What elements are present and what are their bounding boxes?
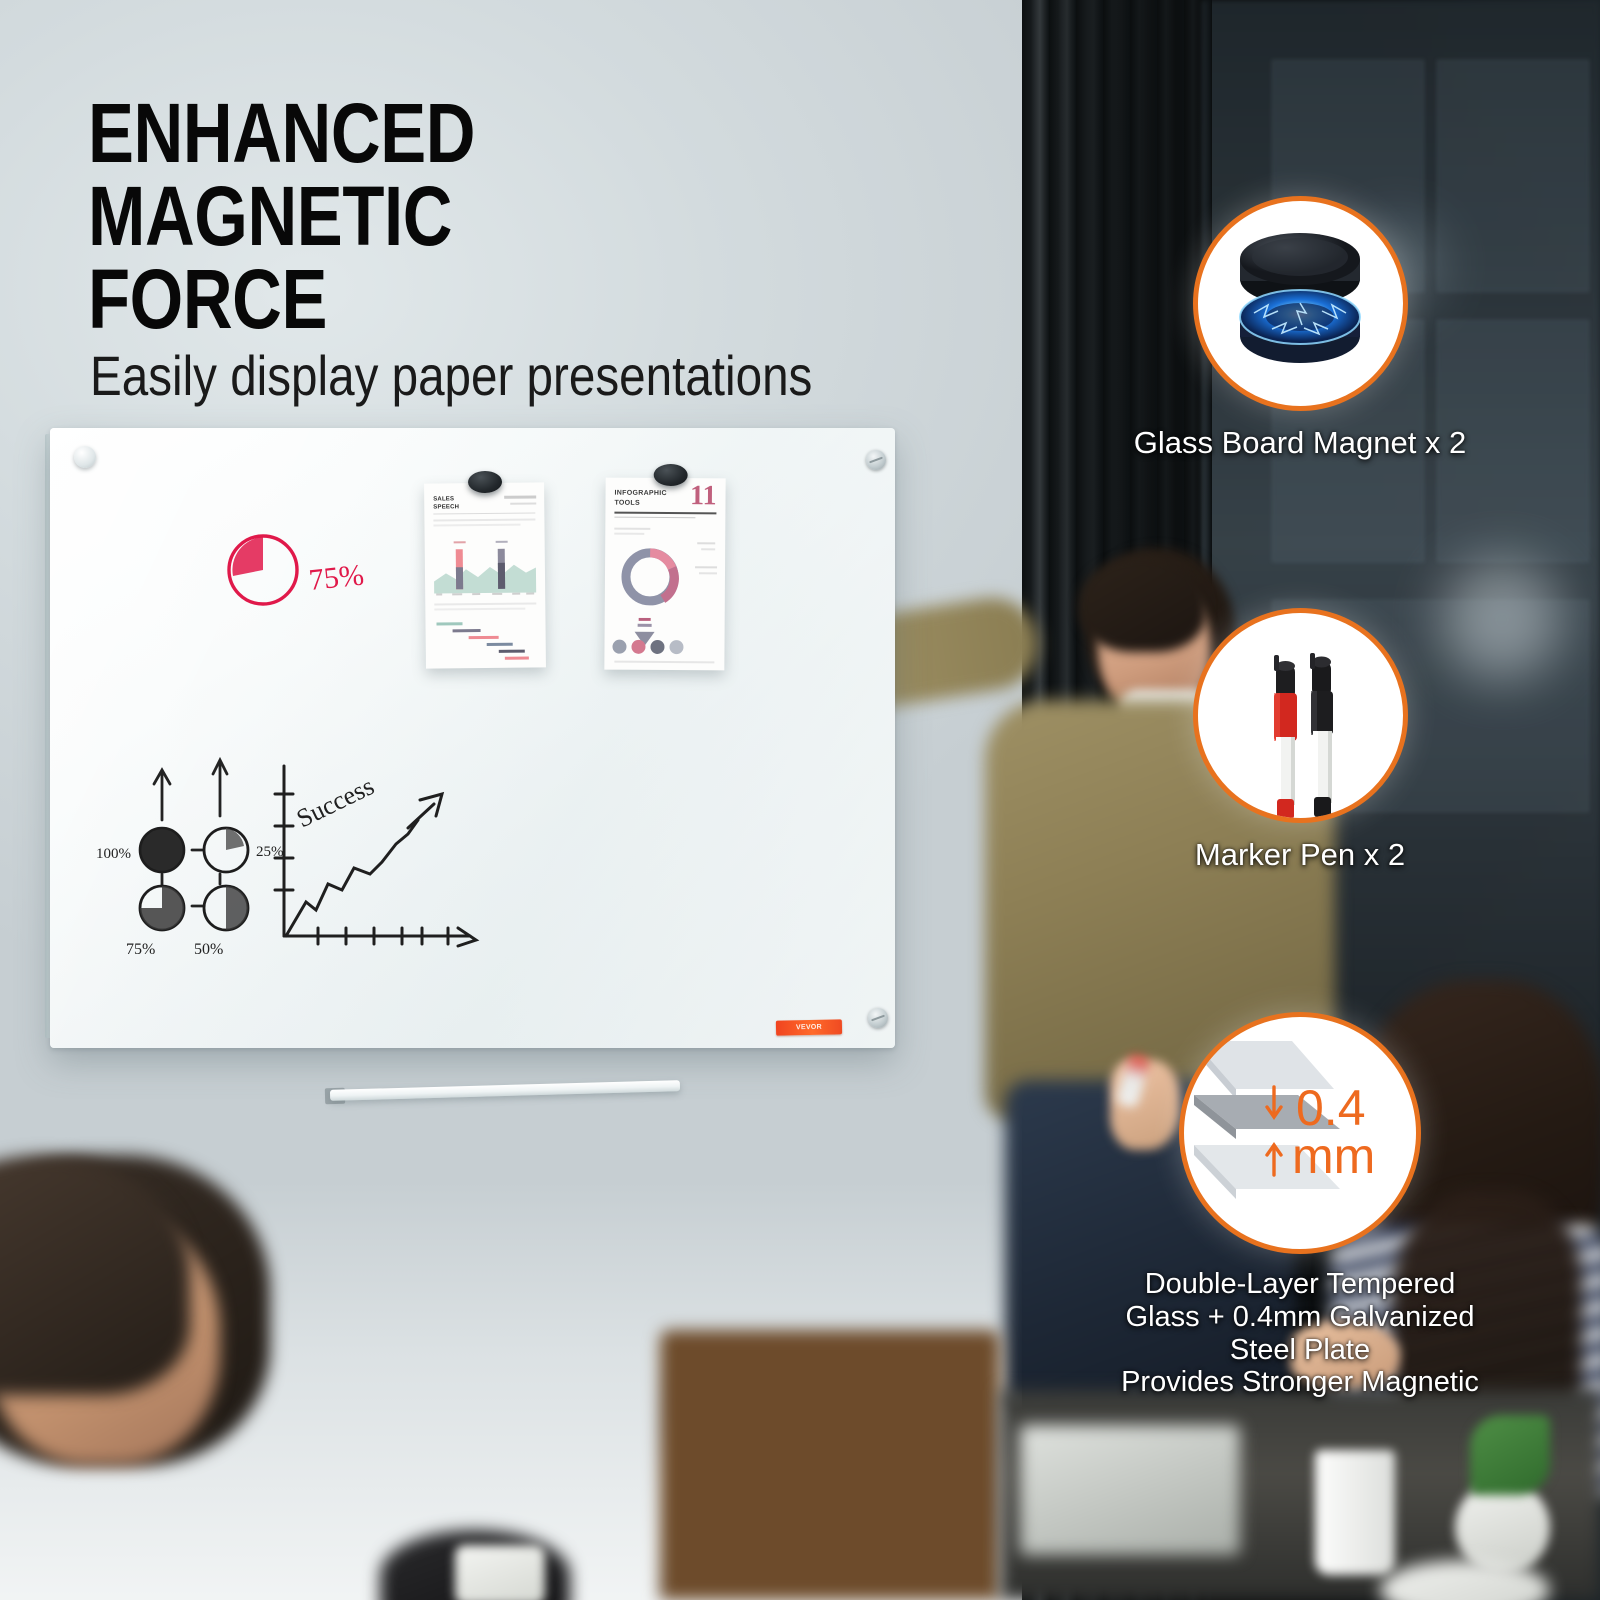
page-subtitle: Easily display paper presentations xyxy=(90,343,940,408)
mount-screw-bottom-right xyxy=(868,1008,888,1028)
red-note-label: 75% xyxy=(307,558,365,597)
paper-line xyxy=(695,566,717,568)
pie-label-50: 50% xyxy=(194,941,223,958)
paper-infographic-tools[interactable]: INFOGRAPHICTOOLS 11 xyxy=(604,478,725,671)
layered-glass-icon: 0.4 mm xyxy=(1179,1012,1421,1254)
paper-icon-row xyxy=(612,640,683,654)
chair-back xyxy=(660,1330,1000,1600)
paper-divider xyxy=(433,512,535,514)
paper-number: 11 xyxy=(690,482,717,510)
callout-caption-marker: Marker Pen x 2 xyxy=(1040,837,1560,874)
page-title: ENHANCED MAGNETIC FORCE xyxy=(88,92,801,341)
paper-line xyxy=(701,548,715,550)
paper-line xyxy=(433,524,520,527)
paper-title: SALESSPEECH xyxy=(433,495,459,511)
magnet-on-paper[interactable] xyxy=(654,464,688,486)
pie-label-100: 100% xyxy=(96,846,131,862)
callout-caption-magnet: Glass Board Magnet x 2 xyxy=(1040,425,1560,462)
marker-pen-icon xyxy=(1193,608,1408,823)
success-label: Success xyxy=(292,771,379,833)
notebook xyxy=(1020,1425,1240,1555)
mount-screw-top-right xyxy=(866,450,886,470)
callout-marker: Marker Pen x 2 xyxy=(1040,608,1560,874)
marketing-image: VEVOR 75% 100% 25% xyxy=(0,0,1600,1600)
brand-tag: VEVOR xyxy=(776,1019,842,1035)
glass-whiteboard[interactable]: VEVOR 75% 100% 25% xyxy=(50,428,895,1048)
magnet-on-paper[interactable] xyxy=(468,471,502,493)
paper-title: INFOGRAPHICTOOLS xyxy=(614,489,666,509)
red-pie-sketch: 75% xyxy=(220,528,380,618)
paper-line xyxy=(434,608,525,611)
paper-line xyxy=(614,528,650,530)
coffee-cup xyxy=(1315,1450,1395,1575)
paper-divider xyxy=(614,512,716,515)
paper-gantt-chart xyxy=(432,618,538,661)
paper-line xyxy=(614,661,714,664)
paper-line xyxy=(699,572,717,574)
paper-rule xyxy=(614,517,695,519)
pie-label-75: 75% xyxy=(126,941,155,958)
paper-sales-speech[interactable]: SALESSPEECH xyxy=(424,482,546,668)
mount-stud-top-left xyxy=(74,446,96,468)
paper-area-chart xyxy=(432,534,539,597)
thickness-unit: mm xyxy=(1292,1128,1375,1184)
paper-line xyxy=(697,542,715,544)
callout-magnet: Glass Board Magnet x 2 xyxy=(1040,196,1560,462)
paper-rule xyxy=(504,495,536,498)
callout-thickness: 0.4 mm Double-Layer Tempered Glass + 0.4… xyxy=(1040,1012,1560,1399)
brand-tag-label: VEVOR xyxy=(776,1019,842,1035)
seated-man-plaid-shirt xyxy=(0,1360,330,1600)
paper-line xyxy=(434,602,536,605)
paper-rule xyxy=(510,502,536,504)
paper-line xyxy=(614,533,644,535)
callout-caption-thickness: Double-Layer Tempered Glass + 0.4mm Galv… xyxy=(1040,1268,1560,1399)
plant-leaves xyxy=(1470,1415,1550,1495)
blackboard-sketch: 100% 25% 75% 50% xyxy=(70,750,500,970)
paper-donut-chart xyxy=(617,544,683,610)
foreground-cup xyxy=(455,1545,545,1600)
magnet-disc-icon xyxy=(1193,196,1408,411)
paper-line xyxy=(433,518,535,521)
